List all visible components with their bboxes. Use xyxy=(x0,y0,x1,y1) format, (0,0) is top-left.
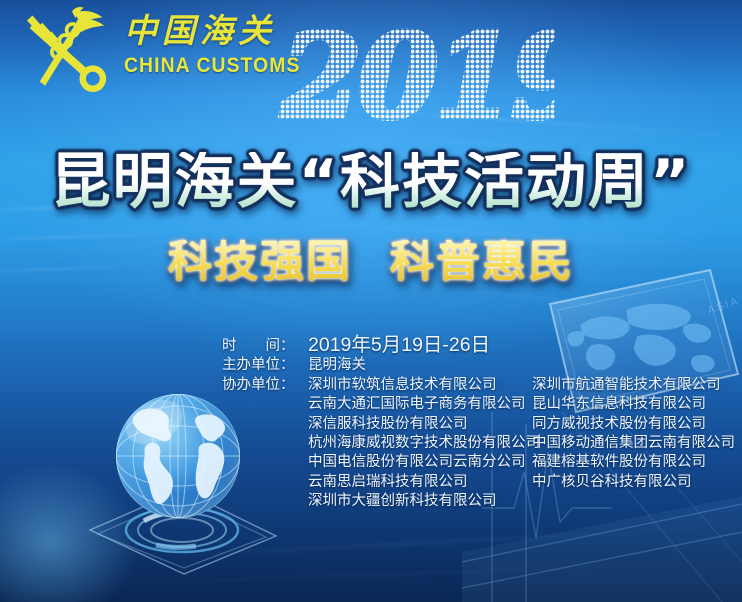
list-item: 深圳市航通智能技术有限公司 xyxy=(532,376,742,395)
list-item: 深信服科技股份有限公司 xyxy=(308,415,532,434)
list-item: 云南大通汇国际电子商务有限公司 xyxy=(308,395,532,414)
china-customs-logo: 中国海关 CHINA CUSTOMS xyxy=(22,6,316,98)
organizer-value: 昆明海关 xyxy=(308,356,366,375)
page-title: 昆明海关“科技活动周” xyxy=(0,152,742,212)
organizer-label: 主办单位： xyxy=(222,356,308,375)
event-banner: 中国海关 CHINA CUSTOMS 2019 昆明海关“科技活动周” 科技强国… xyxy=(0,0,742,602)
event-details: 时 间： 2019年5月19日-26日 主办单位： 昆明海关 协办单位： 深圳市… xyxy=(222,334,742,512)
date-value: 2019年5月19日-26日 xyxy=(308,335,490,355)
year-text: 2019 xyxy=(280,14,555,144)
list-item: 同方威视技术股份有限公司 xyxy=(532,415,742,434)
detail-row-organizer: 主办单位： 昆明海关 xyxy=(222,356,742,375)
detail-row-coorganizers: 协办单位： 深圳市软筑信息技术有限公司 云南大通汇国际电子商务有限公司 深信服科… xyxy=(222,376,742,512)
list-item: 杭州海康威视数字技术股份有限公司 xyxy=(308,434,532,453)
list-item: 中国电信股份有限公司云南分公司 xyxy=(308,453,532,472)
date-label: 时 间： xyxy=(222,337,308,356)
list-item: 深圳市软筑信息技术有限公司 xyxy=(308,376,532,395)
list-item: 云南思启瑞科技有限公司 xyxy=(308,473,532,492)
coorganizer-label: 协办单位： xyxy=(222,376,308,395)
list-item: 昆山华东信息科技有限公司 xyxy=(532,395,742,414)
year-2019-halftone: 2019 xyxy=(275,14,555,144)
customs-caduceus-key-icon xyxy=(22,6,114,98)
detail-row-date: 时 间： 2019年5月19日-26日 xyxy=(222,334,742,356)
logo-en-name: CHINA CUSTOMS xyxy=(124,54,300,78)
coorganizer-column-left: 深圳市软筑信息技术有限公司 云南大通汇国际电子商务有限公司 深信服科技股份有限公… xyxy=(308,376,532,512)
list-item: 中广核贝谷科技有限公司 xyxy=(532,473,742,492)
list-item: 福建榕基软件股份有限公司 xyxy=(532,453,742,472)
subtitle-part-1: 科技强国 xyxy=(168,236,352,287)
list-item: 深圳市大疆创新科技有限公司 xyxy=(308,492,532,511)
list-item: 中国移动通信集团云南有限公司 xyxy=(532,434,742,453)
coorganizer-column-right: 深圳市航通智能技术有限公司 昆山华东信息科技有限公司 同方威视技术股份有限公司 … xyxy=(532,376,742,512)
